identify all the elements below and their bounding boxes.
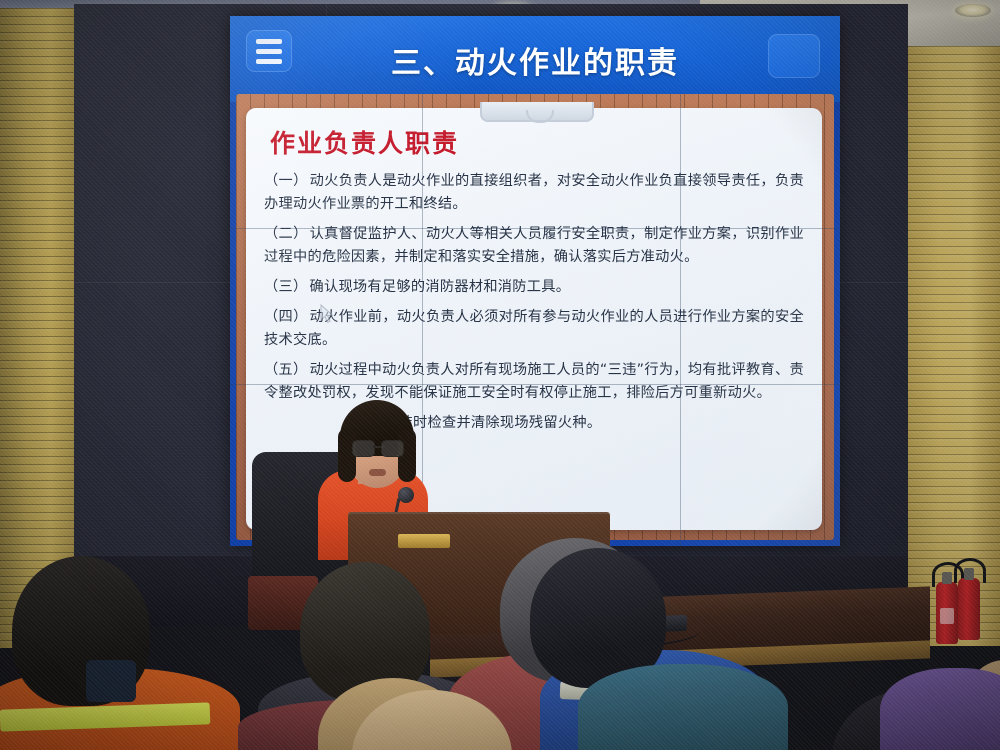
audience-member-6-shoulders (578, 664, 788, 750)
podium-nameplate (398, 534, 450, 548)
slide-title: 三、动火作业的职责 (230, 38, 840, 82)
paragraph-text: 认真督促监护人、动火人等相关人员履行安全职责，制定作业方案，识别作业过程中的危险… (264, 226, 804, 265)
extinguisher-label (940, 608, 954, 624)
wood-slat-wall-right (900, 46, 1000, 646)
glasses-icon (352, 440, 404, 455)
paragraph-lead: （三） (264, 279, 307, 295)
presenter-mouth (369, 469, 386, 476)
paragraph-lead: （一） (264, 173, 308, 189)
paragraph-text: 动火负责人是动火作业的直接组织者，对安全动火作业负直接领导责任，负责办理动火作业… (264, 173, 804, 212)
wood-slat-wall-left (0, 8, 78, 648)
slide-paragraph: （二）认真督促监护人、动火人等相关人员履行安全职责，制定作业方案，识别作业过程中… (264, 223, 804, 269)
card-title: 作业负责人职责 (270, 124, 804, 160)
presentation-room-scene: 三、动火作业的职责 作业负责人职责 （一）动火负责人是动火作业的直接组织者，对安… (0, 0, 1000, 750)
paragraph-text: 终结时检查并清除现场残留火种。 (384, 415, 601, 431)
paragraph-text: 确认现场有足够的消防器材和消防工具。 (309, 279, 570, 295)
audience-member-1-collar (86, 660, 136, 702)
slide-paragraph: （四）动火作业前，动火负责人必须对所有参与动火作业的人员进行作业方案的安全技术交… (264, 306, 804, 352)
screen-frame-handle (480, 102, 594, 122)
paragraph-lead: （五） (264, 362, 308, 378)
slide-paragraph: （一）动火负责人是动火作业的直接组织者，对安全动火作业负直接领导责任，负责办理动… (264, 170, 804, 216)
slide-paragraph: （五）动火过程中动火负责人对所有现场施工人员的“三违”行为，均有批评教育、责令整… (264, 359, 804, 405)
slide-paragraph: （三）确认现场有足够的消防器材和消防工具。 (264, 276, 804, 299)
paragraph-text: 动火作业前，动火负责人必须对所有参与动火作业的人员进行作业方案的安全技术交底。 (264, 309, 804, 348)
paragraph-lead: （四） (264, 309, 308, 325)
paragraph-lead: （二） (264, 226, 308, 242)
fire-extinguisher (958, 578, 980, 640)
audience-member-10-shoulders (880, 668, 1000, 750)
extinguisher-hose (954, 558, 986, 583)
paragraph-text: 动火过程中动火负责人对所有现场施工人员的“三违”行为，均有批评教育、责令整改处罚… (264, 362, 804, 401)
slide-header-bar: 三、动火作业的职责 (230, 16, 840, 102)
fire-extinguisher (936, 582, 958, 644)
downlight-icon (955, 4, 991, 17)
slide-paragraph: 终结时检查并清除现场残留火种。 (384, 412, 804, 435)
microphone-head (398, 487, 414, 503)
